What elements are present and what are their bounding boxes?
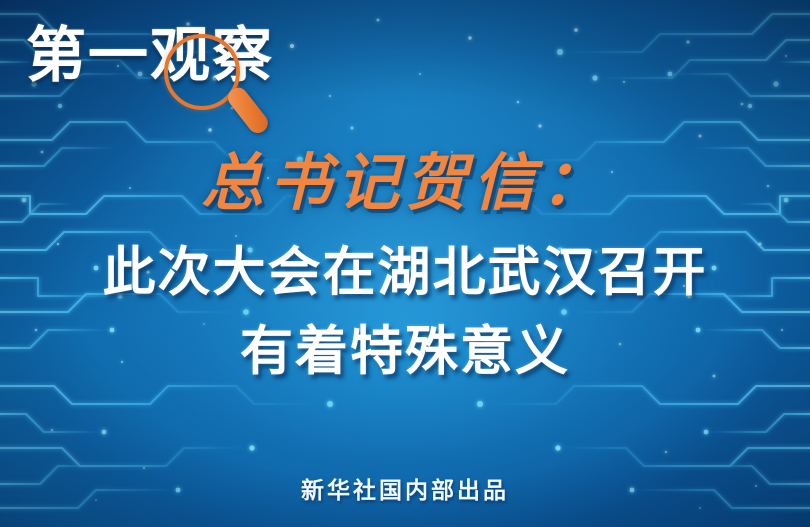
poster-canvas: 第一观察 总书记贺信： 此次大会在湖北武汉召开 有着特殊意义 新华社国内部出品	[0, 0, 810, 527]
headline-block: 总书记贺信： 此次大会在湖北武汉召开 有着特殊意义	[0, 150, 810, 389]
brand-logo[interactable]: 第一观察	[26, 22, 316, 132]
headline-line-2: 有着特殊意义	[0, 314, 810, 389]
magnifying-glass-handle-icon	[224, 84, 272, 137]
headline-title: 总书记贺信：	[0, 150, 810, 217]
footer-credit: 新华社国内部出品	[0, 471, 810, 505]
headline-line-1: 此次大会在湖北武汉召开	[0, 235, 810, 310]
